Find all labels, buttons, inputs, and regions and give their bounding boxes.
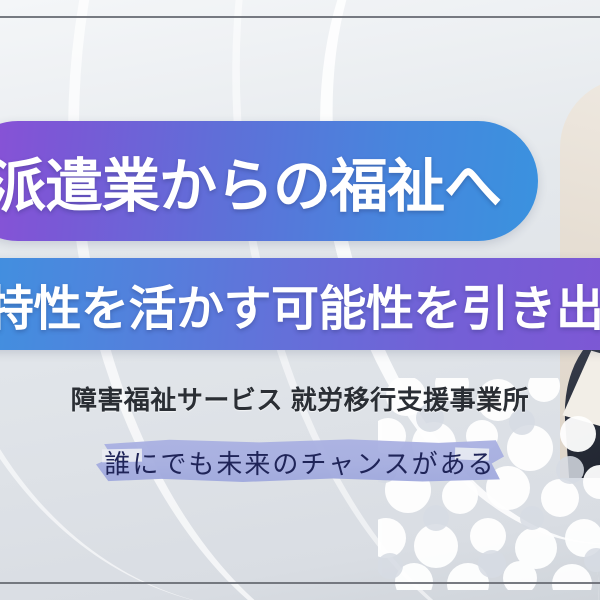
headline-banner-primary: 派遣業からの福祉へ: [0, 121, 538, 241]
headline-primary-text: 派遣業からの福祉へ: [0, 121, 538, 241]
headline-secondary-text: 特性を活かす可能性を引き出す道: [0, 258, 600, 350]
tagline-group: 誰にでも未来のチャンスがある: [0, 436, 600, 488]
top-rule-line: [0, 16, 600, 18]
tagline-text: 誰にでも未来のチャンスがある: [0, 436, 600, 488]
bottom-rule-line: [0, 582, 600, 584]
headline-banner-secondary: 特性を活かす可能性を引き出す道: [0, 258, 600, 350]
service-subtitle: 障害福祉サービス 就労移行支援事業所: [0, 380, 600, 417]
poster-canvas: 派遣業からの福祉へ 特性を活かす可能性を引き出す道 障害福祉サービス 就労移行支…: [0, 0, 600, 600]
